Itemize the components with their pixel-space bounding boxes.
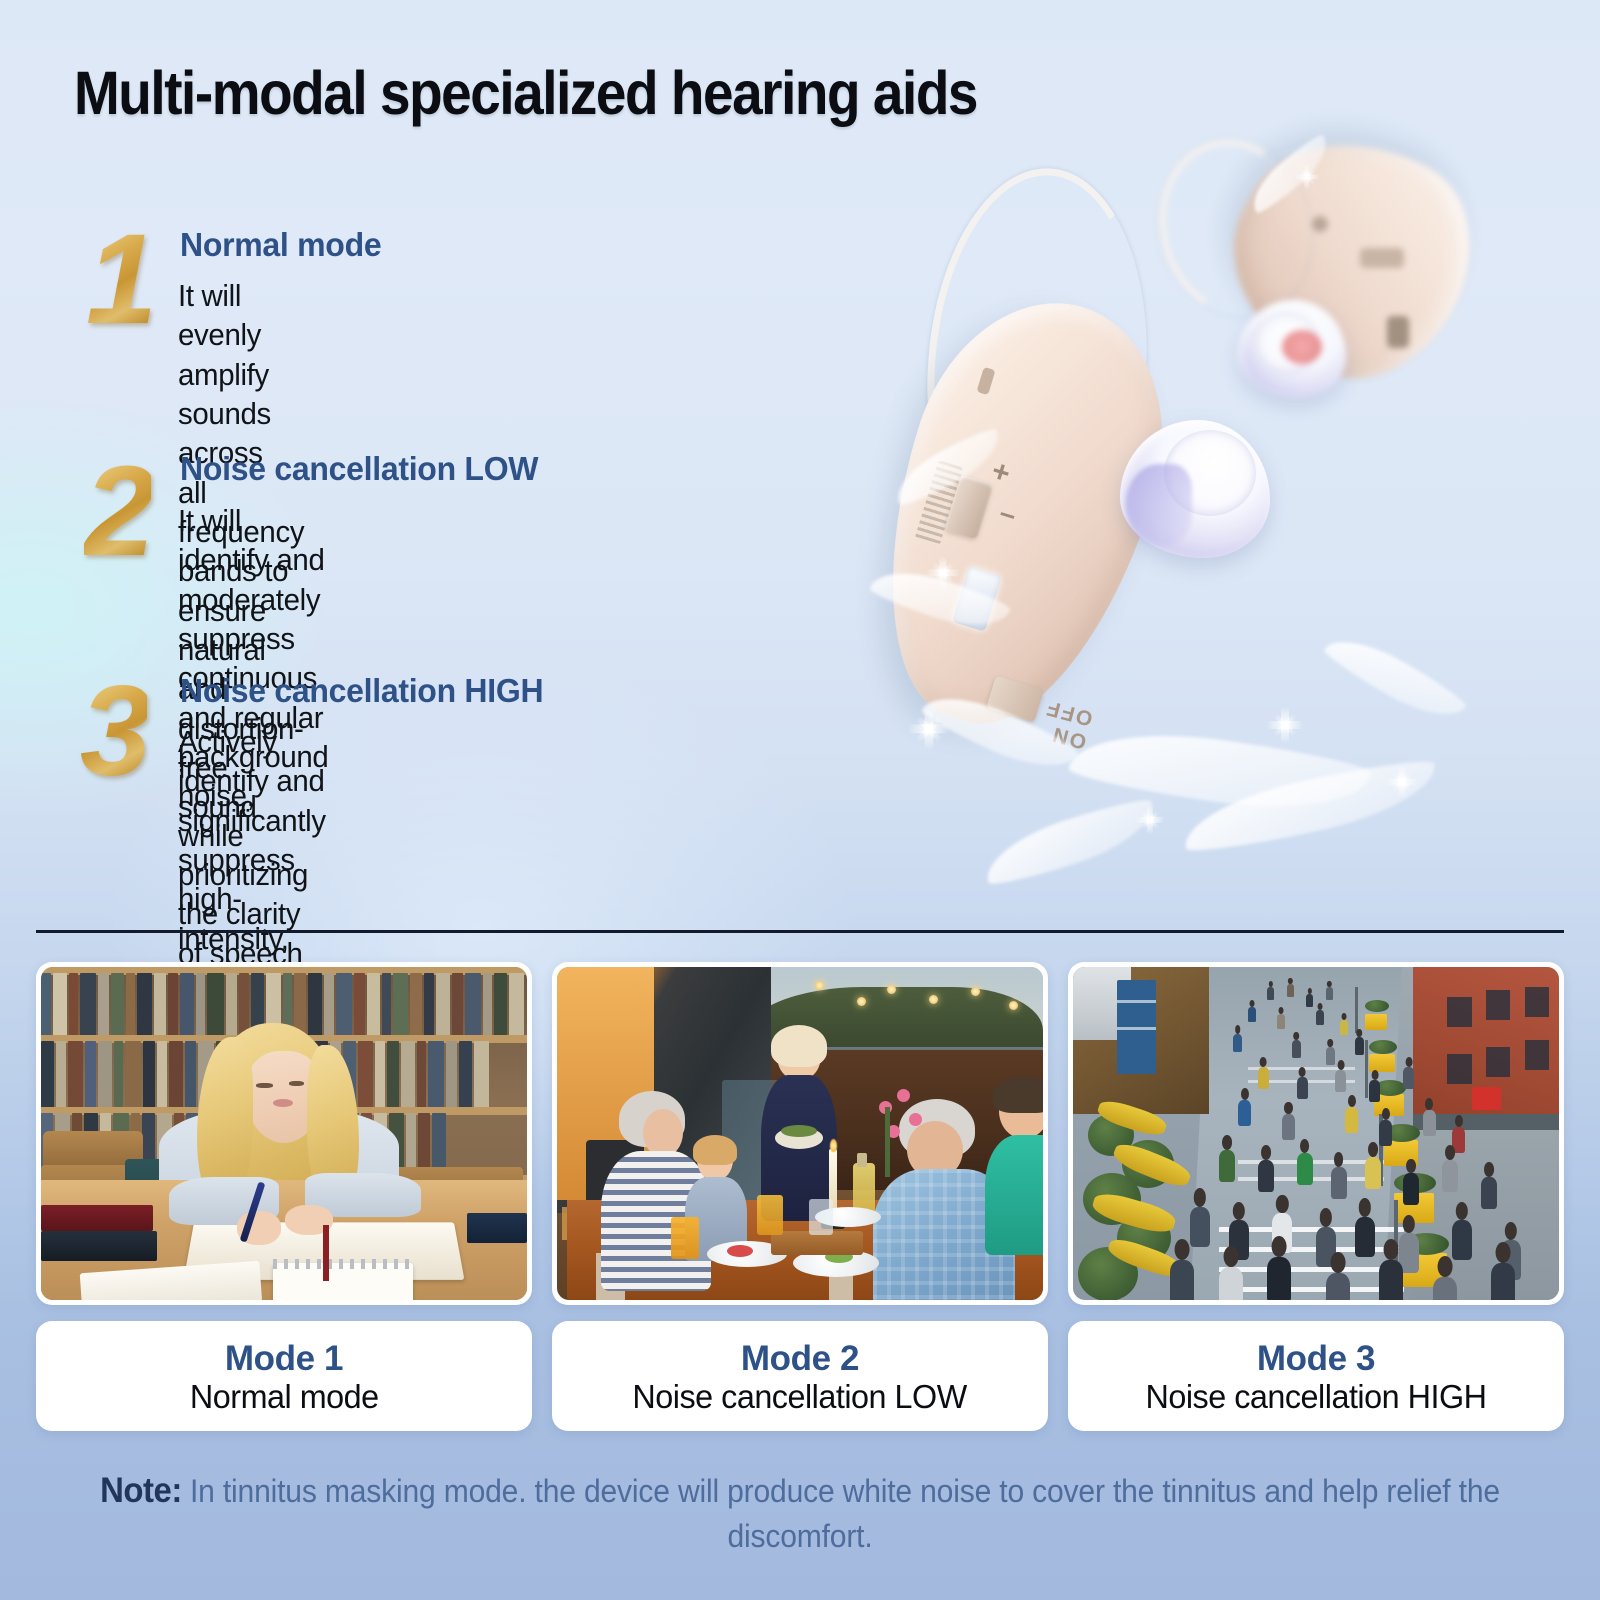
sparkle-glint bbox=[1130, 800, 1170, 840]
feature-heading-3: Noise cancellation HIGH bbox=[180, 672, 543, 710]
mode-title-3: Mode 3 bbox=[1257, 1339, 1375, 1378]
feather-decoration bbox=[1321, 625, 1469, 731]
mode-title-1: Mode 1 bbox=[225, 1339, 343, 1378]
numeral-2: 2 bbox=[84, 448, 151, 576]
sparkle-glint bbox=[900, 700, 958, 758]
page-title: Multi-modal specialized hearing aids bbox=[74, 62, 977, 124]
sparkle-glint bbox=[1290, 160, 1324, 194]
footer-note: Note: In tinnitus masking mode. the devi… bbox=[48, 1468, 1552, 1557]
feature-heading-2: Noise cancellation LOW bbox=[180, 450, 538, 488]
mode-caption-card-3: Mode 3 Noise cancellation HIGH bbox=[1068, 1321, 1564, 1431]
note-label: Note: bbox=[100, 1471, 182, 1510]
feature-heading-1: Normal mode bbox=[180, 226, 381, 264]
mode-photo-card-1 bbox=[36, 962, 532, 1305]
photo-family-dinner bbox=[557, 967, 1043, 1300]
mode-card-2: Mode 2 Noise cancellation LOW bbox=[552, 962, 1048, 1431]
mode-photo-card-3 bbox=[1068, 962, 1564, 1305]
photo-crowded-street bbox=[1073, 967, 1559, 1300]
numeral-1: 1 bbox=[86, 216, 153, 344]
mode-card-1: Mode 1 Normal mode bbox=[36, 962, 532, 1431]
numeral-3: 3 bbox=[80, 668, 147, 796]
mode-cards-row: Mode 1 Normal mode bbox=[36, 962, 1564, 1431]
mode-caption-card-2: Mode 2 Noise cancellation LOW bbox=[552, 1321, 1048, 1431]
photo-library-student bbox=[41, 967, 527, 1300]
sparkle-glint bbox=[1260, 700, 1310, 750]
product-photo-hearing-aids: + – ON OFF bbox=[860, 120, 1600, 880]
mode-subtitle-1: Normal mode bbox=[190, 1378, 379, 1417]
note-text: In tinnitus masking mode. the device wil… bbox=[182, 1473, 1500, 1554]
mode-title-2: Mode 2 bbox=[741, 1339, 859, 1378]
mode-subtitle-2: Noise cancellation LOW bbox=[633, 1378, 967, 1417]
mode-caption-card-1: Mode 1 Normal mode bbox=[36, 1321, 532, 1431]
mode-photo-card-2 bbox=[552, 962, 1048, 1305]
sparkle-glint bbox=[920, 550, 966, 596]
sparkle-glint bbox=[1380, 760, 1424, 804]
section-divider bbox=[36, 930, 1564, 933]
infographic-page: Multi-modal specialized hearing aids 1 N… bbox=[0, 0, 1600, 1600]
mode-subtitle-3: Noise cancellation HIGH bbox=[1145, 1378, 1486, 1417]
mode-card-3: Mode 3 Noise cancellation HIGH bbox=[1068, 962, 1564, 1431]
